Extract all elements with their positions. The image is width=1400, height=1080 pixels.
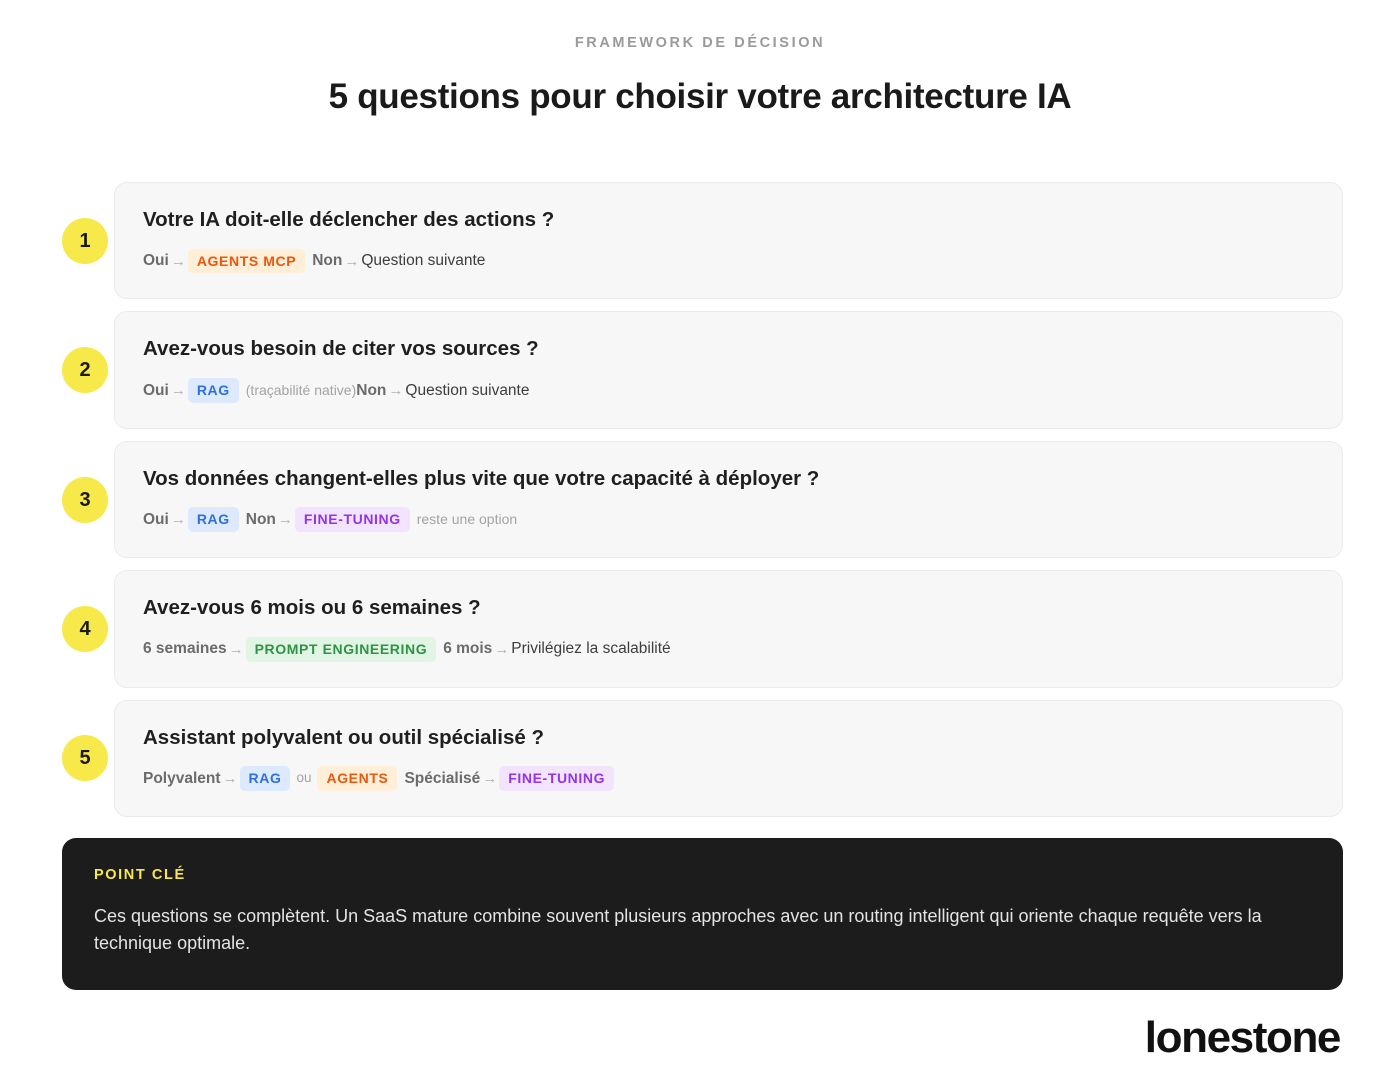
answer-note: (traçabilité native) (246, 381, 357, 401)
question-row: 3Vos données changent-elles plus vite qu… (62, 441, 1343, 558)
question-answer-row: Oui→RAGNon→FINE-TUNINGreste une option (143, 507, 1314, 532)
answer-outcome-text: Privilégiez la scalabilité (511, 638, 670, 660)
question-row: 4Avez-vous 6 mois ou 6 semaines ?6 semai… (62, 570, 1343, 687)
arrow-icon: → (480, 768, 499, 789)
answer-condition-label: 6 semaines (143, 638, 227, 660)
question-row: 1Votre IA doit-elle déclencher des actio… (62, 182, 1343, 299)
answer-note: reste une option (417, 510, 517, 530)
page-header: FRAMEWORK DE DÉCISION 5 questions pour c… (0, 0, 1400, 117)
question-title: Vos données changent-elles plus vite que… (143, 466, 1314, 492)
technique-tag: PROMPT ENGINEERING (246, 637, 437, 662)
arrow-icon: → (342, 251, 361, 272)
key-point-callout: POINT CLÉ Ces questions se complètent. U… (62, 838, 1343, 990)
answer-condition-label: Non (246, 509, 276, 531)
question-answer-row: 6 semaines→PROMPT ENGINEERING6 mois→Priv… (143, 637, 1314, 662)
answer-outcome-text: Question suivante (405, 380, 529, 402)
key-point-body: Ces questions se complètent. Un SaaS mat… (94, 903, 1309, 959)
question-card: Vos données changent-elles plus vite que… (114, 441, 1343, 558)
key-point-label: POINT CLÉ (94, 868, 1311, 883)
eyebrow-label: FRAMEWORK DE DÉCISION (0, 36, 1400, 51)
arrow-icon: → (169, 251, 188, 272)
arrow-icon: → (169, 380, 188, 401)
technique-tag: AGENTS (317, 766, 397, 791)
question-answer-row: Polyvalent→RAGouAGENTSSpécialisé→FINE-TU… (143, 766, 1314, 791)
question-answer-row: Oui→RAG(traçabilité native)Non→Question … (143, 378, 1314, 403)
question-card: Votre IA doit-elle déclencher des action… (114, 182, 1343, 299)
arrow-icon: → (386, 380, 405, 401)
technique-tag: RAG (188, 507, 239, 532)
answer-condition-label: Polyvalent (143, 768, 221, 790)
arrow-icon: → (492, 639, 511, 660)
question-answer-row: Oui→AGENTS MCPNon→Question suivante (143, 249, 1314, 274)
technique-tag: RAG (240, 766, 291, 791)
arrow-icon: → (227, 639, 246, 660)
question-card: Avez-vous besoin de citer vos sources ?O… (114, 311, 1343, 428)
question-row: 2Avez-vous besoin de citer vos sources ?… (62, 311, 1343, 428)
arrow-icon: → (221, 768, 240, 789)
page-title: 5 questions pour choisir votre architect… (0, 77, 1400, 117)
question-title: Assistant polyvalent ou outil spécialisé… (143, 725, 1314, 751)
answer-condition-label: Non (312, 250, 342, 272)
answer-condition-label: Oui (143, 250, 169, 272)
question-number-badge: 2 (62, 347, 108, 393)
answer-condition-label: Oui (143, 380, 169, 402)
question-title: Avez-vous besoin de citer vos sources ? (143, 336, 1314, 362)
infographic-page: FRAMEWORK DE DÉCISION 5 questions pour c… (0, 0, 1400, 1080)
question-number-badge: 3 (62, 477, 108, 523)
question-number-badge: 1 (62, 218, 108, 264)
question-title: Votre IA doit-elle déclencher des action… (143, 207, 1314, 233)
answer-condition-label: 6 mois (443, 638, 492, 660)
answer-outcome-text: Question suivante (361, 250, 485, 272)
question-number-badge: 5 (62, 735, 108, 781)
technique-tag: AGENTS MCP (188, 249, 305, 274)
answer-condition-label: Spécialisé (404, 768, 480, 790)
technique-tag: FINE-TUNING (295, 507, 410, 532)
question-card: Avez-vous 6 mois ou 6 semaines ?6 semain… (114, 570, 1343, 687)
lonestone-logo: lonestone (1145, 1016, 1340, 1060)
answer-separator: ou (290, 769, 317, 788)
answer-condition-label: Oui (143, 509, 169, 531)
question-row: 5Assistant polyvalent ou outil spécialis… (62, 700, 1343, 817)
technique-tag: FINE-TUNING (499, 766, 614, 791)
question-title: Avez-vous 6 mois ou 6 semaines ? (143, 595, 1314, 621)
technique-tag: RAG (188, 378, 239, 403)
answer-condition-label: Non (356, 380, 386, 402)
arrow-icon: → (169, 509, 188, 530)
question-number-badge: 4 (62, 606, 108, 652)
arrow-icon: → (276, 509, 295, 530)
question-list: 1Votre IA doit-elle déclencher des actio… (62, 182, 1343, 829)
question-card: Assistant polyvalent ou outil spécialisé… (114, 700, 1343, 817)
